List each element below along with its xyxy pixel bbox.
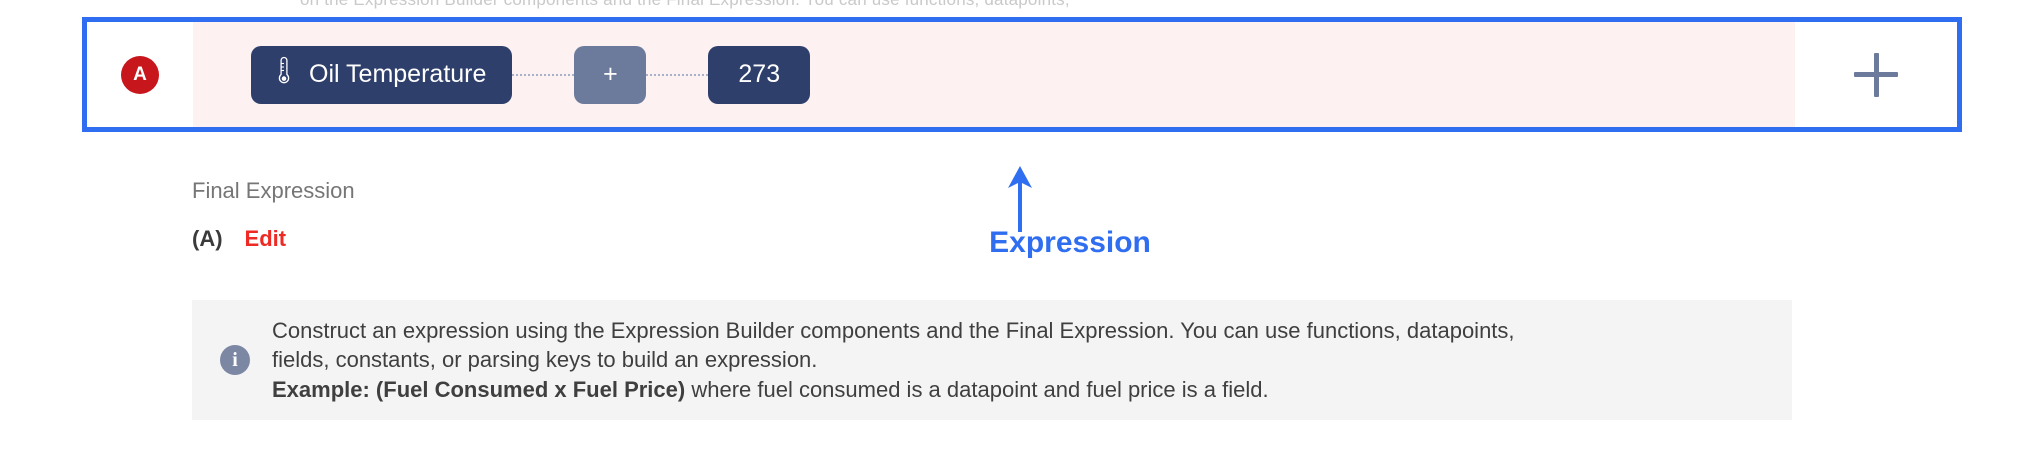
cut-off-text-row: on the Expression Builder components and… xyxy=(0,0,2018,14)
info-example-bold: Example: (Fuel Consumed x Fuel Price) xyxy=(272,377,685,402)
chip-operator[interactable]: + xyxy=(574,46,646,104)
info-line-2: fields, constants, or parsing keys to bu… xyxy=(272,345,1515,374)
expression-builder-row: A Oil Temperature + xyxy=(87,22,1957,127)
info-example-rest: where fuel consumed is a datapoint and f… xyxy=(685,377,1268,402)
expression-strip: Oil Temperature + 273 xyxy=(193,22,1795,127)
expression-builder-highlight: A Oil Temperature + xyxy=(82,17,1962,132)
info-line-1: Construct an expression using the Expres… xyxy=(272,316,1515,345)
info-icon: i xyxy=(220,345,250,375)
info-text: Construct an expression using the Expres… xyxy=(272,316,1515,404)
add-component-cell xyxy=(1795,22,1957,127)
cut-off-text: on the Expression Builder components and… xyxy=(300,0,1070,10)
chip-connector xyxy=(646,74,708,76)
thermometer-icon xyxy=(277,56,291,93)
info-line-3: Example: (Fuel Consumed x Fuel Price) wh… xyxy=(272,375,1515,404)
row-reference-badge: A xyxy=(121,56,159,94)
edit-link[interactable]: Edit xyxy=(245,228,287,250)
annotation-label: Expression xyxy=(910,228,1230,258)
final-expression-row: (A) Edit xyxy=(192,228,286,250)
add-component-icon[interactable] xyxy=(1854,53,1898,97)
chip-operator-label: + xyxy=(603,62,618,87)
chip-datapoint-label: Oil Temperature xyxy=(309,62,486,87)
chip-constant-label: 273 xyxy=(738,62,780,87)
info-box: i Construct an expression using the Expr… xyxy=(192,300,1792,420)
annotation-arrow xyxy=(920,160,1200,280)
chip-datapoint[interactable]: Oil Temperature xyxy=(251,46,512,104)
row-reference-cell: A xyxy=(87,22,193,127)
final-expression-heading: Final Expression xyxy=(192,180,355,202)
chip-constant[interactable]: 273 xyxy=(708,46,810,104)
final-expression-reference: (A) xyxy=(192,228,223,250)
chip-connector xyxy=(512,74,574,76)
